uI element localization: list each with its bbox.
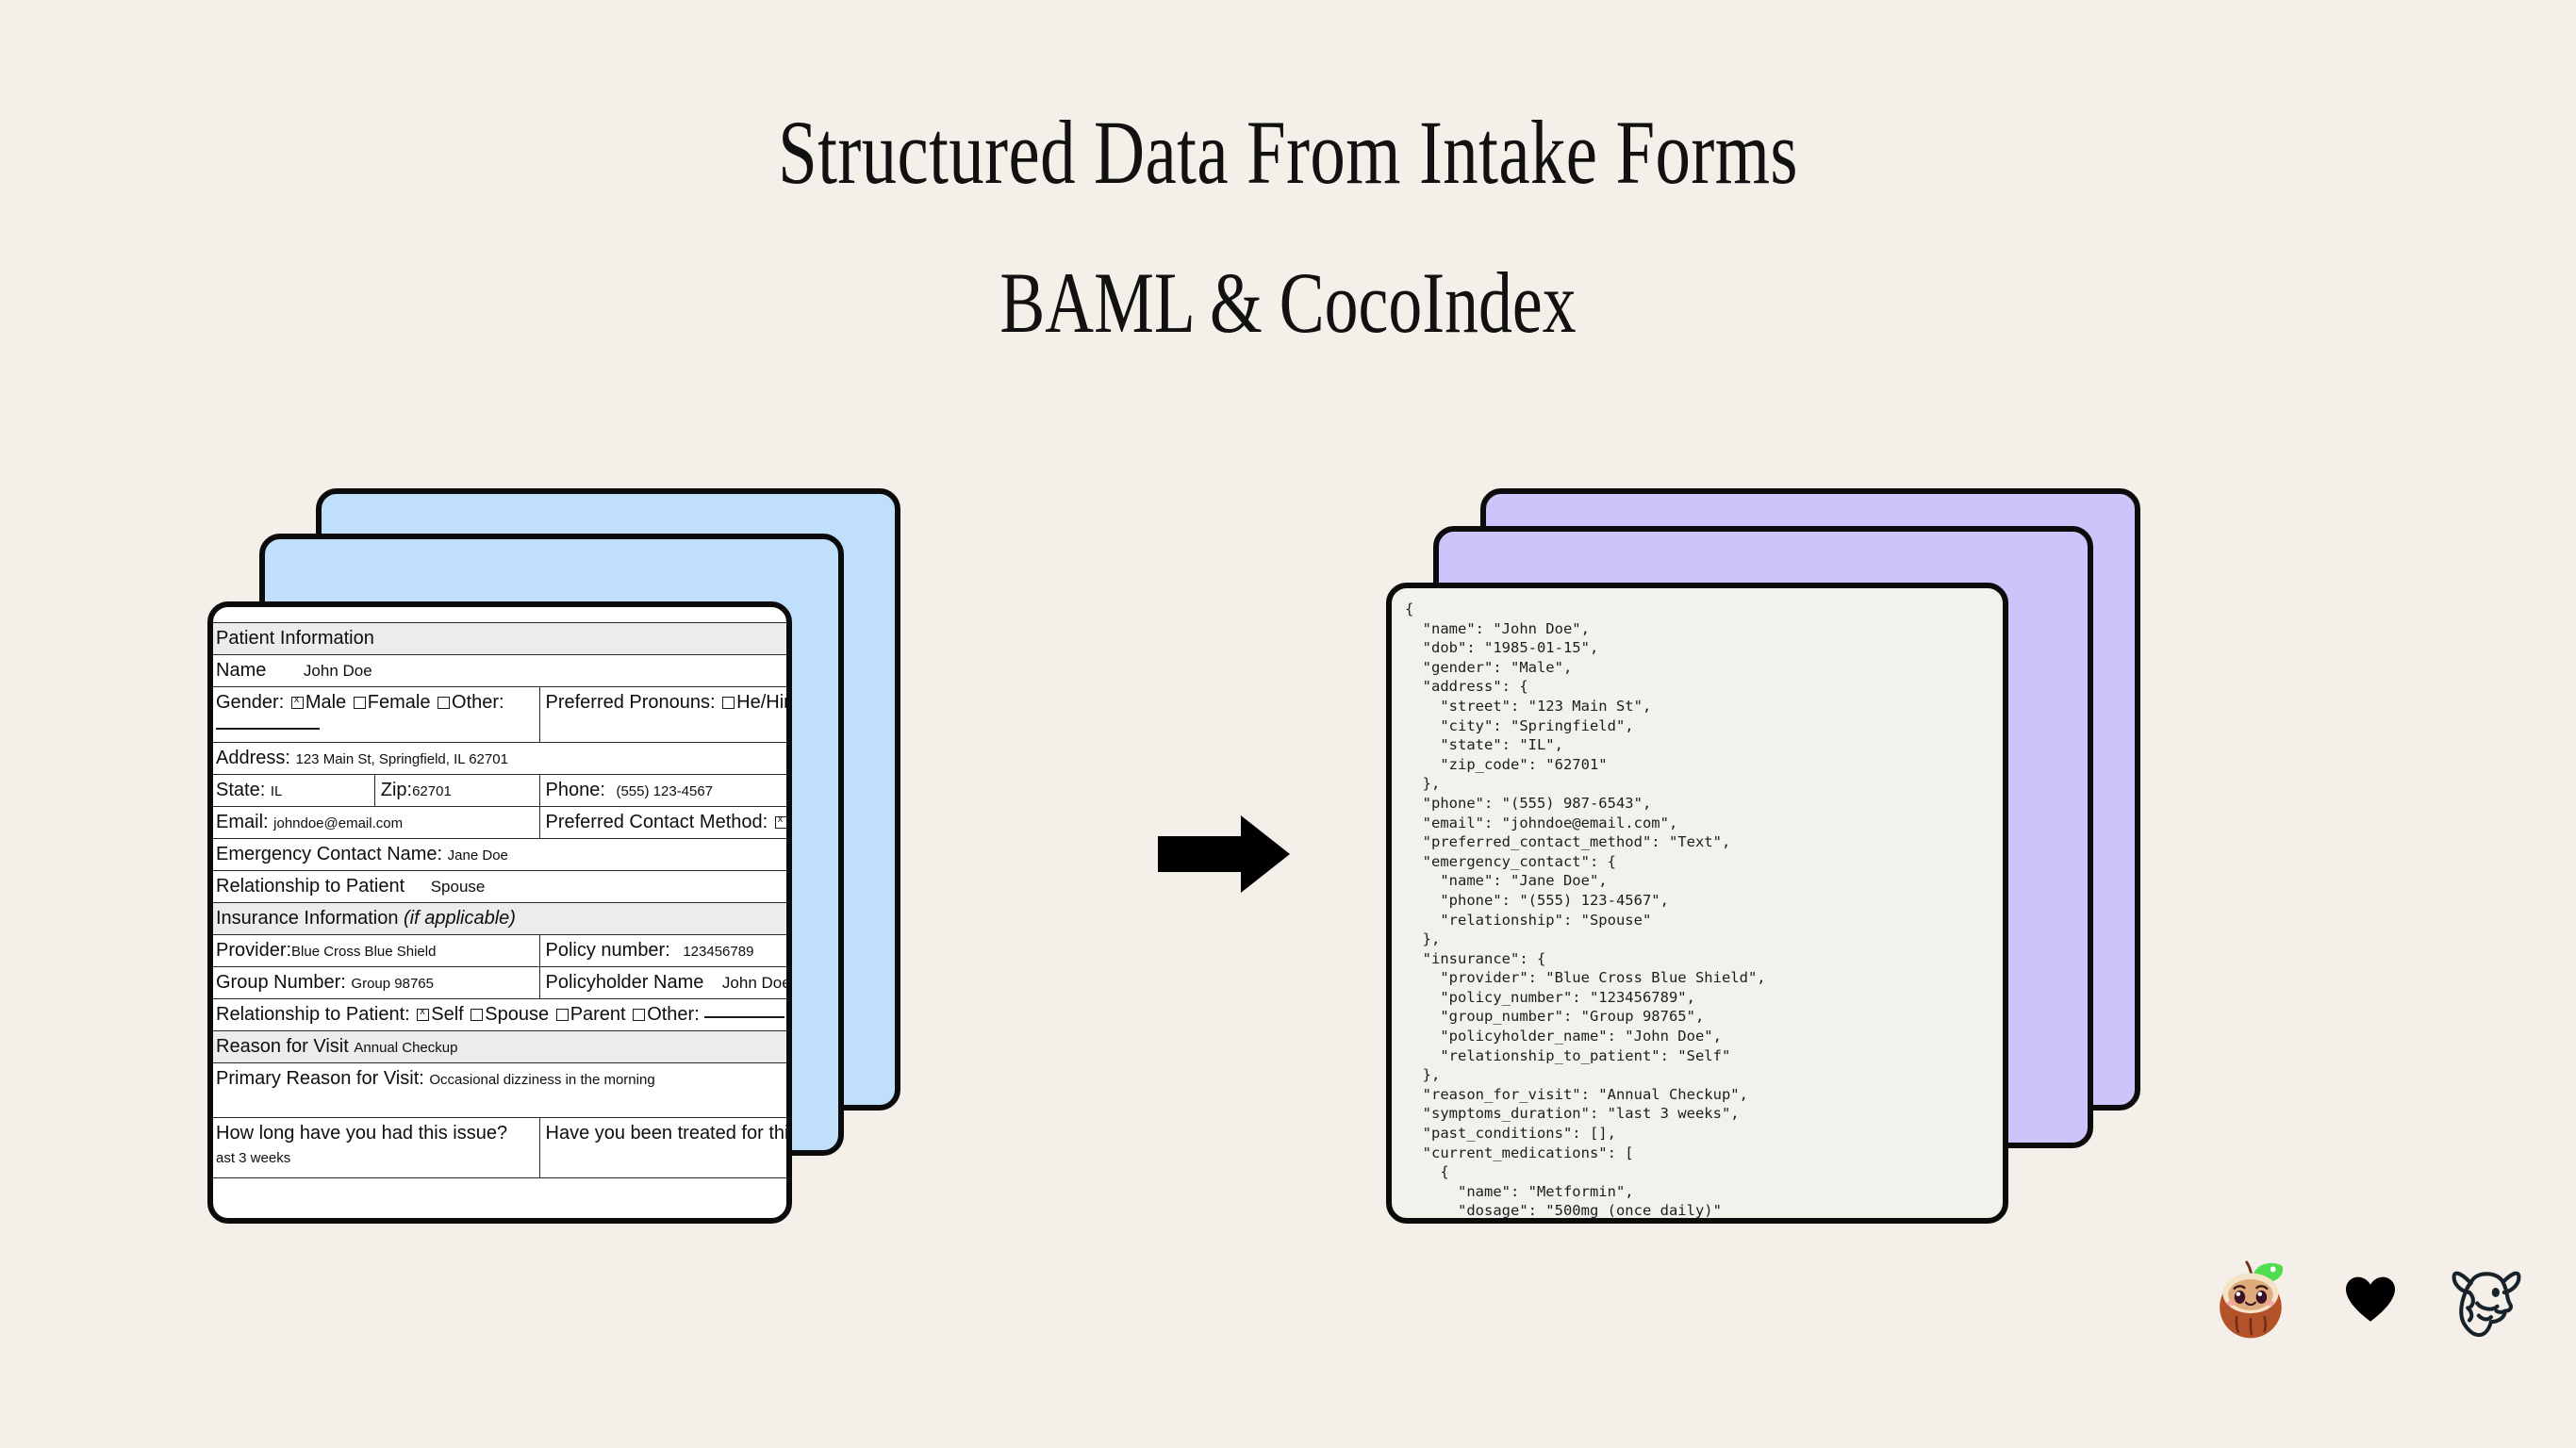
json-output-card-stack: { "name": "John Doe", "dob": "1985-01-15… [1386, 488, 2140, 1233]
section-header-reason-text: Reason for Visit [216, 1036, 349, 1057]
checkbox-parent[interactable] [556, 1009, 569, 1021]
field-insurance-relationship: Relationship to Patient: Self Spouse Par… [210, 999, 793, 1031]
field-state: State: IL [210, 775, 375, 807]
field-value-name: John Doe [304, 662, 372, 680]
table-row-duration-treated: How long have you had this issue? ast 3 … [210, 1118, 793, 1178]
field-value-policyholder-name: John Doe [722, 974, 791, 992]
section-header-insurance: Insurance Information (if applicable) [210, 903, 793, 935]
checkbox-male[interactable] [291, 697, 304, 709]
table-row-name: Name John Doe [210, 655, 793, 687]
field-value-state: IL [271, 783, 283, 799]
field-label-name: Name [216, 660, 266, 681]
table-row-reason-section: Reason for Visit Annual Checkup [210, 1031, 793, 1063]
field-policy-number: Policy number: 123456789 [539, 935, 792, 967]
field-value-emergency-name: Jane Doe [448, 847, 508, 864]
field-emergency-name: Emergency Contact Name: Jane Doe [210, 839, 793, 871]
field-label-email: Email: [216, 812, 269, 832]
right-arrow-icon [1158, 815, 1290, 893]
field-provider: Provider:Blue Cross Blue Shield [210, 935, 540, 967]
checkbox-gender-other[interactable] [438, 697, 450, 709]
field-label-policyholder-name: Policyholder Name [546, 972, 704, 993]
field-group-number: Group Number: Group 98765 [210, 967, 540, 999]
table-row-insurance-section: Insurance Information (if applicable) [210, 903, 793, 935]
coconut-icon [2216, 1258, 2293, 1344]
field-email: Email: johndoe@email.com [210, 807, 540, 839]
field-relationship: Relationship to Patient Spouse [210, 871, 793, 903]
table-row-group-policyholder: Group Number: Group 98765 Policyholder N… [210, 967, 793, 999]
option-label-male: Male [305, 692, 346, 713]
field-name: Name John Doe [210, 655, 793, 687]
heart-icon [2346, 1276, 2395, 1325]
table-row-primary-reason: Primary Reason for Visit: Occasional diz… [210, 1063, 793, 1118]
field-label-treated-before: Have you been treated for this before? [546, 1123, 793, 1144]
field-value-reason-for-visit: Annual Checkup [354, 1040, 457, 1056]
field-zip: Zip:62701 [374, 775, 539, 807]
table-row-state-zip-phone: State: IL Zip:62701 Phone: (555) 123-456… [210, 775, 793, 807]
option-label-contact-phone: Phone [789, 812, 792, 832]
option-label-parent: Parent [570, 1004, 626, 1025]
section-header-reason: Reason for Visit Annual Checkup [210, 1031, 793, 1063]
gender-other-write-in[interactable] [216, 728, 320, 730]
field-pronouns: Preferred Pronouns: He/Him She/ [539, 687, 792, 743]
field-label-policy-number: Policy number: [546, 940, 670, 961]
field-gender: Gender: Male Female Other: [210, 687, 540, 743]
checkbox-female[interactable] [354, 697, 366, 709]
table-row-emergency-name: Emergency Contact Name: Jane Doe [210, 839, 793, 871]
field-label-gender: Gender: [216, 692, 284, 713]
table-row-relationship: Relationship to Patient Spouse [210, 871, 793, 903]
field-value-address: 123 Main St, Springfield, IL 62701 [296, 751, 508, 767]
section-header-insurance-note: (if applicable) [404, 908, 516, 929]
field-policyholder-name: Policyholder Name John Doe [539, 967, 792, 999]
option-label-female: Female [368, 692, 431, 713]
field-label-emergency-name: Emergency Contact Name: [216, 844, 442, 864]
field-value-relationship: Spouse [431, 878, 486, 896]
table-row-address: Address: 123 Main St, Springfield, IL 62… [210, 743, 793, 775]
checkbox-ins-other[interactable] [633, 1009, 645, 1021]
field-label-insurance-relationship: Relationship to Patient: [216, 1004, 410, 1025]
field-label-how-long: How long have you had this issue? [216, 1123, 507, 1144]
field-label-primary-reason: Primary Reason for Visit: [216, 1068, 424, 1089]
option-label-self: Self [431, 1004, 463, 1025]
field-label-zip: Zip: [381, 780, 412, 800]
field-label-address: Address: [216, 748, 290, 768]
option-label-he-him: He/Him [736, 692, 792, 713]
intake-form-card-stack: Patient Information Name John Doe Gender… [207, 488, 905, 1233]
field-value-provider: Blue Cross Blue Shield [291, 944, 436, 960]
page-subtitle: BAML & CocoIndex [284, 256, 2293, 350]
option-label-spouse: Spouse [485, 1004, 549, 1025]
title-block: Structured Data From Intake Forms BAML &… [0, 104, 2576, 350]
field-label-relationship: Relationship to Patient [216, 876, 405, 897]
field-label-state: State: [216, 780, 265, 800]
checkbox-contact-phone[interactable] [775, 816, 787, 829]
table-row-provider-policy: Provider:Blue Cross Blue Shield Policy n… [210, 935, 793, 967]
llama-icon [2448, 1258, 2525, 1344]
field-label-contact-method: Preferred Contact Method: [546, 812, 768, 832]
section-header-insurance-text: Insurance Information [216, 908, 398, 929]
field-address: Address: 123 Main St, Springfield, IL 62… [210, 743, 793, 775]
field-value-group-number: Group 98765 [351, 976, 434, 992]
intake-form-table-wrapper: Patient Information Name John Doe Gender… [209, 622, 792, 1178]
field-value-zip: 62701 [412, 783, 452, 799]
field-how-long: How long have you had this issue? ast 3 … [210, 1118, 540, 1178]
llama-logo [2448, 1258, 2525, 1344]
table-row-gender-pronouns: Gender: Male Female Other: Preferred Pro… [210, 687, 793, 743]
field-label-provider: Provider: [216, 940, 291, 961]
field-primary-reason: Primary Reason for Visit: Occasional diz… [210, 1063, 793, 1118]
intake-form-card[interactable]: Patient Information Name John Doe Gender… [207, 601, 792, 1224]
heart-glyph [2346, 1276, 2395, 1324]
field-label-group-number: Group Number: [216, 972, 346, 993]
transform-arrow [1158, 815, 1290, 893]
table-row-insurance-relationship: Relationship to Patient: Self Spouse Par… [210, 999, 793, 1031]
insurance-other-write-in[interactable] [704, 1016, 784, 1018]
json-output-code: { "name": "John Doe", "dob": "1985-01-15… [1405, 600, 1766, 1221]
field-treated-before: Have you been treated for this before? [539, 1118, 792, 1178]
field-label-phone: Phone: [546, 780, 605, 800]
field-value-how-long: ast 3 weeks [216, 1150, 290, 1166]
intake-form-table: Patient Information Name John Doe Gender… [209, 622, 792, 1178]
checkbox-self[interactable] [417, 1009, 429, 1021]
field-phone: Phone: (555) 123-4567 [539, 775, 792, 807]
table-row-patient-section: Patient Information [210, 623, 793, 655]
footer-logos [2216, 1249, 2527, 1353]
field-label-pronouns: Preferred Pronouns: [546, 692, 716, 713]
coconut-mascot-logo [2216, 1258, 2293, 1344]
table-row-email-contact-method: Email: johndoe@email.com Preferred Conta… [210, 807, 793, 839]
option-label-ins-other: Other: [647, 1004, 700, 1025]
json-output-card[interactable]: { "name": "John Doe", "dob": "1985-01-15… [1386, 583, 2008, 1224]
section-header-patient: Patient Information [210, 623, 793, 655]
page-title: Structured Data From Intake Forms [284, 104, 2293, 202]
field-value-email: johndoe@email.com [273, 815, 403, 831]
field-contact-method: Preferred Contact Method: Phone [539, 807, 792, 839]
field-value-primary-reason: Occasional dizziness in the morning [429, 1072, 654, 1088]
option-label-gender-other: Other: [452, 692, 504, 713]
checkbox-he-him[interactable] [722, 697, 735, 709]
checkbox-spouse[interactable] [471, 1009, 483, 1021]
field-value-phone: (555) 123-4567 [616, 783, 713, 799]
field-value-policy-number: 123456789 [683, 944, 753, 960]
